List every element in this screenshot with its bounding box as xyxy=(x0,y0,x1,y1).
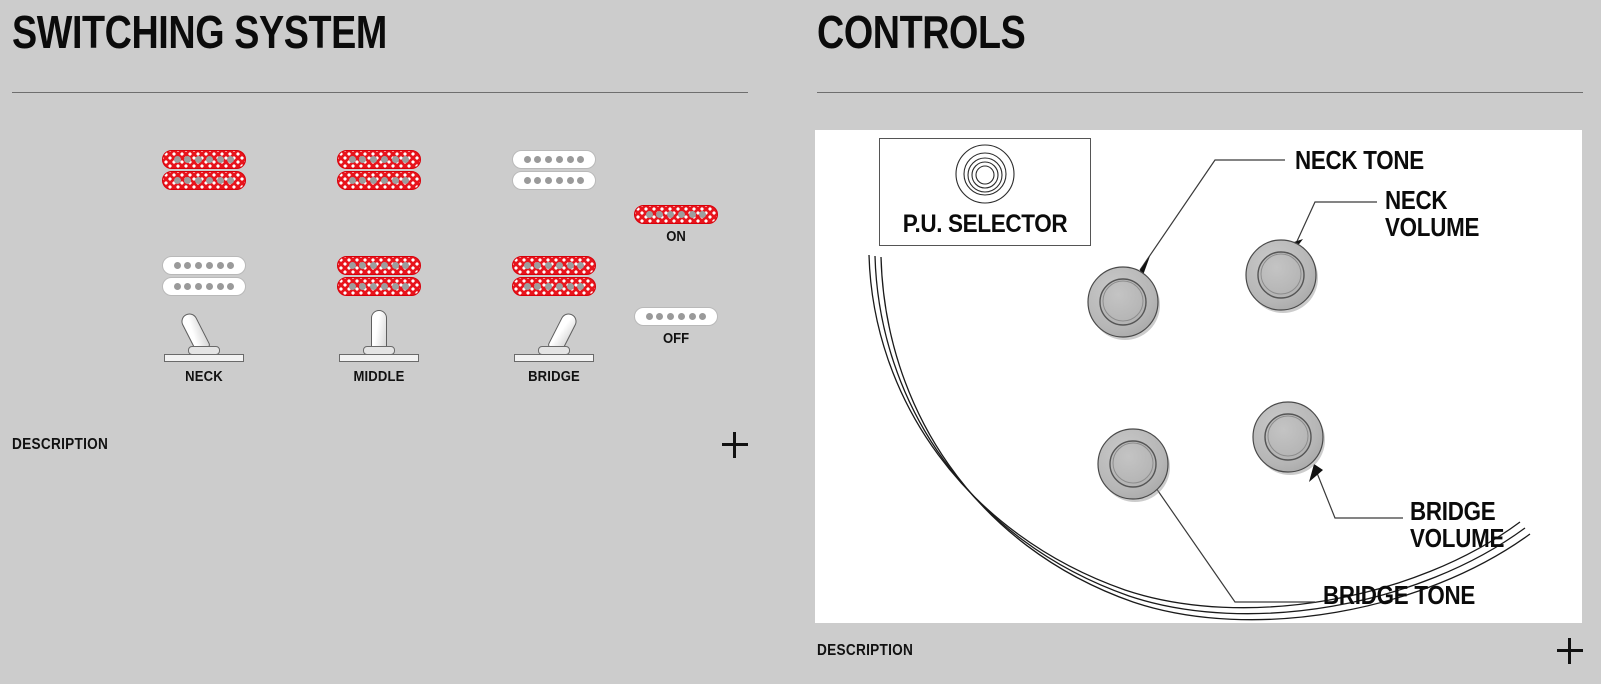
label-bridge-tone: BRIDGE TONE xyxy=(1323,582,1475,609)
pole-piece xyxy=(556,283,563,290)
knob-neck-tone[interactable] xyxy=(1088,267,1160,340)
pole-piece xyxy=(370,262,377,269)
pole-piece xyxy=(392,177,399,184)
pole-piece xyxy=(217,156,224,163)
toggle-switch-neck[interactable] xyxy=(162,306,246,362)
title-divider xyxy=(817,92,1583,93)
legend-item-on: ON xyxy=(624,205,728,245)
switch-column-neck[interactable]: NECK xyxy=(139,150,269,385)
knob-neck-volume[interactable] xyxy=(1246,240,1318,313)
pole-piece xyxy=(381,283,388,290)
pole-piece xyxy=(699,211,706,218)
switching-diagram: NECK MIDDLE xyxy=(0,0,790,684)
toggle-base xyxy=(339,354,419,362)
switch-label-bridge: BRIDGE xyxy=(496,369,613,385)
pole-piece xyxy=(217,177,224,184)
switch-label-neck: NECK xyxy=(146,369,263,385)
legend-coil-on xyxy=(634,205,718,224)
pole-piece xyxy=(217,283,224,290)
pole-piece xyxy=(556,262,563,269)
pole-piece xyxy=(392,156,399,163)
description-row-controls[interactable]: DESCRIPTION xyxy=(817,638,1583,664)
toggle-switch-middle[interactable] xyxy=(337,306,421,362)
pole-piece xyxy=(524,283,531,290)
pole-piece xyxy=(534,283,541,290)
pickup-middle-top-on xyxy=(337,150,421,190)
spacer xyxy=(314,190,444,256)
pole-piece xyxy=(184,156,191,163)
pole-piece xyxy=(206,156,213,163)
pole-piece xyxy=(577,156,584,163)
title-divider xyxy=(12,92,748,93)
pole-piece xyxy=(392,283,399,290)
description-label: DESCRIPTION xyxy=(12,436,108,454)
switch-label-middle: MIDDLE xyxy=(321,369,438,385)
switch-column-middle[interactable]: MIDDLE xyxy=(314,150,444,385)
toggle-base xyxy=(514,354,594,362)
pole-piece xyxy=(195,283,202,290)
pole-piece xyxy=(545,262,552,269)
pole-piece xyxy=(577,262,584,269)
plus-icon[interactable] xyxy=(1557,638,1583,664)
pole-piece xyxy=(577,283,584,290)
toggle-base xyxy=(164,354,244,362)
pole-piece xyxy=(184,283,191,290)
pole-piece xyxy=(227,283,234,290)
rotary-switch-icon xyxy=(880,141,1090,215)
pickup-middle-bottom-on xyxy=(337,256,421,296)
pole-piece xyxy=(534,177,541,184)
pole-piece xyxy=(370,156,377,163)
switch-column-bridge[interactable]: BRIDGE xyxy=(489,150,619,385)
knob-bridge-volume[interactable] xyxy=(1253,402,1325,475)
pole-piece xyxy=(646,313,653,320)
pole-piece xyxy=(524,177,531,184)
pole-piece xyxy=(689,211,696,218)
pole-piece xyxy=(656,313,663,320)
pole-piece xyxy=(556,177,563,184)
pole-piece xyxy=(545,156,552,163)
pole-piece xyxy=(567,156,574,163)
pole-piece xyxy=(567,283,574,290)
page-title-switching: SWITCHING SYSTEM xyxy=(12,8,387,56)
legend-coil-off xyxy=(634,307,718,326)
pole-piece xyxy=(567,177,574,184)
description-label: DESCRIPTION xyxy=(817,642,913,660)
page-title-controls: CONTROLS xyxy=(817,8,1025,56)
pole-piece xyxy=(349,262,356,269)
pole-piece xyxy=(545,283,552,290)
pole-piece xyxy=(359,262,366,269)
description-row-switching[interactable]: DESCRIPTION xyxy=(12,432,748,458)
pole-piece xyxy=(184,262,191,269)
pole-piece xyxy=(656,211,663,218)
label-neck-volume: NECK VOLUME xyxy=(1385,187,1479,241)
leader-line-bridge-tone xyxy=(1147,475,1315,602)
leader-line-neck-volume xyxy=(1293,202,1377,250)
legend-item-off: OFF xyxy=(624,307,728,347)
pole-piece xyxy=(195,177,202,184)
pole-piece xyxy=(381,177,388,184)
pickup-bridge-top-off xyxy=(512,150,596,190)
pole-piece xyxy=(174,283,181,290)
pole-piece xyxy=(206,262,213,269)
pole-piece xyxy=(534,156,541,163)
pole-piece xyxy=(227,177,234,184)
pole-piece xyxy=(577,177,584,184)
legend-label-on: ON xyxy=(629,229,723,245)
label-bridge-volume: BRIDGE VOLUME xyxy=(1410,498,1504,552)
pole-piece xyxy=(689,313,696,320)
pole-piece xyxy=(349,156,356,163)
pole-piece xyxy=(381,262,388,269)
pu-selector-box[interactable]: P.U. SELECTOR xyxy=(879,138,1091,246)
pickup-state-legend: ON OFF xyxy=(624,205,728,347)
plus-icon[interactable] xyxy=(722,432,748,458)
pickup-neck-bottom-off xyxy=(162,256,246,296)
pole-piece xyxy=(370,177,377,184)
pole-piece xyxy=(206,283,213,290)
pickup-bridge-bottom-on xyxy=(512,256,596,296)
pole-piece xyxy=(567,262,574,269)
spacer xyxy=(139,190,269,256)
pole-piece xyxy=(678,313,685,320)
body-outline-curve xyxy=(869,255,1530,620)
legend-label-off: OFF xyxy=(629,331,723,347)
pole-piece xyxy=(227,156,234,163)
pole-piece xyxy=(678,211,685,218)
pole-piece xyxy=(524,156,531,163)
pole-piece xyxy=(349,177,356,184)
pole-piece xyxy=(184,177,191,184)
pole-piece xyxy=(349,283,356,290)
controls-panel: CONTROLS xyxy=(815,0,1601,684)
pu-selector-label: P.U. SELECTOR xyxy=(891,210,1080,239)
pole-piece xyxy=(359,177,366,184)
spacer xyxy=(489,190,619,256)
pole-piece xyxy=(402,283,409,290)
pole-piece xyxy=(227,262,234,269)
toggle-lever[interactable] xyxy=(371,310,387,350)
pole-piece xyxy=(195,262,202,269)
pole-piece xyxy=(402,156,409,163)
pole-piece xyxy=(206,177,213,184)
pole-piece xyxy=(392,262,399,269)
pole-piece xyxy=(524,262,531,269)
leader-line-bridge-volume xyxy=(1315,468,1403,518)
pole-piece xyxy=(195,156,202,163)
pole-piece xyxy=(402,262,409,269)
controls-diagram: P.U. SELECTOR NECK TONE NECK VOLUME BRID… xyxy=(815,130,1582,623)
toggle-switch-bridge[interactable] xyxy=(512,306,596,362)
pole-piece xyxy=(646,211,653,218)
pole-piece xyxy=(667,211,674,218)
pickup-neck-top-on xyxy=(162,150,246,190)
pole-piece xyxy=(174,177,181,184)
pole-piece xyxy=(359,283,366,290)
pole-piece xyxy=(370,283,377,290)
pole-piece xyxy=(556,156,563,163)
pole-piece xyxy=(545,177,552,184)
pole-piece xyxy=(359,156,366,163)
pole-piece xyxy=(217,262,224,269)
switching-system-panel: SWITCHING SYSTEM NECK xyxy=(0,0,790,684)
pole-piece xyxy=(381,156,388,163)
pole-piece xyxy=(667,313,674,320)
pole-piece xyxy=(402,177,409,184)
knob-bridge-tone[interactable] xyxy=(1098,429,1170,502)
pole-piece xyxy=(699,313,706,320)
pole-piece xyxy=(174,262,181,269)
label-neck-tone: NECK TONE xyxy=(1295,147,1424,174)
pole-piece xyxy=(534,262,541,269)
pole-piece xyxy=(174,156,181,163)
